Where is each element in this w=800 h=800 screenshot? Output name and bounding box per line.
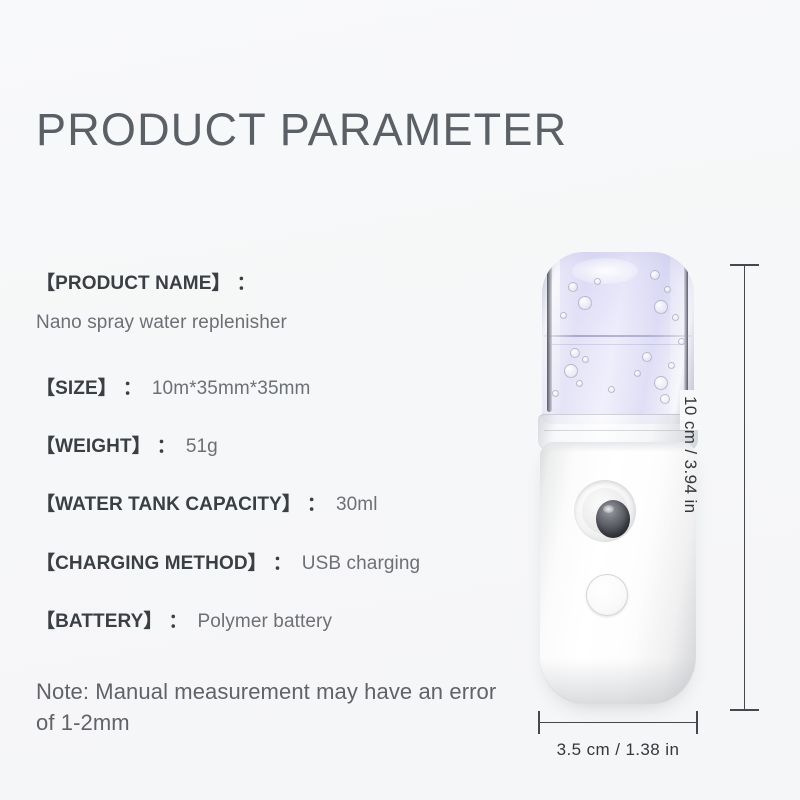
product-body xyxy=(540,442,696,704)
water-droplet xyxy=(608,386,615,393)
spec-label-weight: 【WEIGHT】 xyxy=(36,431,151,458)
width-dimension-line xyxy=(538,722,697,723)
water-droplet xyxy=(570,348,580,358)
spec-label-battery: 【BATTERY】 xyxy=(36,606,163,633)
spec-colon-charging-method: ： xyxy=(267,548,296,575)
water-droplet xyxy=(668,362,675,369)
spec-colon-size: ： xyxy=(117,373,146,400)
spray-nozzle xyxy=(574,480,636,542)
spec-row-water-tank-capacity: 【WATER TANK CAPACITY】 ： 30ml xyxy=(36,489,378,516)
width-dimension-cap-right xyxy=(696,711,698,734)
water-droplet xyxy=(594,278,601,285)
spec-row-product-name: 【PRODUCT NAME】 ： xyxy=(36,268,260,295)
measurement-note: Note: Manual measurement may have an err… xyxy=(36,676,506,738)
spec-value-water-tank-capacity: 30ml xyxy=(330,494,378,516)
water-droplet xyxy=(672,314,679,321)
spec-row-charging-method: 【CHARGING METHOD】 ： USB charging xyxy=(36,548,420,575)
cap-highlight xyxy=(572,258,638,284)
water-droplet xyxy=(654,376,668,390)
water-droplet xyxy=(654,300,668,314)
spec-row-weight: 【WEIGHT】 ： 51g xyxy=(36,431,218,458)
spec-row-battery: 【BATTERY】 ： Polymer battery xyxy=(36,606,332,633)
water-droplet xyxy=(576,380,583,387)
spec-value-size: 10m*35mm*35mm xyxy=(146,378,311,400)
collar-seam xyxy=(544,430,692,431)
spec-colon-battery: ： xyxy=(163,606,192,633)
spec-colon-weight: ： xyxy=(151,431,180,458)
water-droplet xyxy=(582,356,589,363)
spec-label-product-name: 【PRODUCT NAME】 xyxy=(36,268,231,295)
water-droplet xyxy=(564,364,578,378)
water-droplet xyxy=(664,286,671,293)
nozzle-inner-ring xyxy=(582,488,628,534)
water-droplet xyxy=(650,270,660,280)
body-bottom-shading xyxy=(540,658,696,704)
product-cap xyxy=(542,252,694,424)
power-button[interactable] xyxy=(586,574,628,616)
height-dimension-line xyxy=(744,264,745,710)
product-parameter-page: PRODUCT PARAMETER 【PRODUCT NAME】 ： Nano … xyxy=(0,0,800,800)
water-droplet xyxy=(578,296,592,310)
water-droplet xyxy=(634,370,641,377)
spec-row-size: 【SIZE】 ： 10m*35mm*35mm xyxy=(36,373,311,400)
spec-row-product-name-value: Nano spray water replenisher xyxy=(36,312,287,334)
water-droplet xyxy=(678,338,685,345)
cap-water-line-secondary xyxy=(552,344,684,345)
spec-label-water-tank-capacity: 【WATER TANK CAPACITY】 xyxy=(36,489,301,516)
spec-colon-product-name: ： xyxy=(231,268,260,295)
body-top-lip xyxy=(542,442,694,452)
spec-value-battery: Polymer battery xyxy=(192,611,333,633)
water-droplet xyxy=(560,312,567,319)
spec-value-charging-method: USB charging xyxy=(296,553,420,575)
height-dimension-cap-bottom xyxy=(730,709,759,711)
water-droplet xyxy=(568,282,578,292)
spec-label-size: 【SIZE】 xyxy=(36,373,117,400)
spec-value-weight: 51g xyxy=(180,436,218,458)
height-dimension-label: 10 cm / 3.94 in xyxy=(680,390,700,430)
cap-glass-edge-left xyxy=(547,266,552,412)
spec-label-charging-method: 【CHARGING METHOD】 xyxy=(36,548,267,575)
spec-value-product-name: Nano spray water replenisher xyxy=(36,312,287,334)
page-title: PRODUCT PARAMETER xyxy=(36,104,567,156)
cap-water-line xyxy=(544,335,692,337)
height-dimension-cap-top xyxy=(730,264,759,266)
nozzle-core xyxy=(596,500,630,538)
water-droplet xyxy=(552,390,559,397)
spec-colon-water-tank-capacity: ： xyxy=(301,489,330,516)
water-droplet xyxy=(660,394,670,404)
water-droplet xyxy=(642,352,652,362)
width-dimension-cap-left xyxy=(538,711,540,734)
width-dimension-label: 3.5 cm / 1.38 in xyxy=(538,740,698,760)
nozzle-highlight xyxy=(603,505,614,513)
